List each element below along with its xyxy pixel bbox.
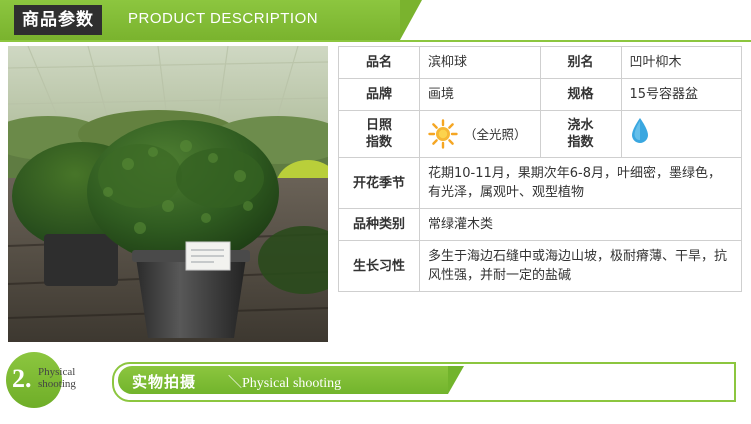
section-header: 商品参数 PRODUCT DESCRIPTION: [0, 0, 751, 42]
product-photo: [8, 46, 328, 342]
photo-illustration: [8, 46, 328, 342]
row-value-flowering: 花期10-11月，果期次年6-8月，叶细密，墨绿色，有光泽，属观叶、观型植物: [420, 158, 742, 209]
row-label-flowering: 开花季节: [339, 158, 420, 209]
row-value-watering: [621, 111, 742, 158]
sunlight-note: （全光照）: [464, 125, 527, 144]
row-value-sunlight: （全光照）: [420, 111, 541, 158]
table-row: 品种类别 常绿灌木类: [339, 209, 742, 241]
row-label-category: 品种类别: [339, 209, 420, 241]
header-title-cn: 商品参数: [14, 5, 102, 35]
table-row: 日照指数: [339, 111, 742, 158]
section-number-caption: Physical shooting: [38, 366, 76, 390]
section-title-cn: 实物拍摄: [132, 371, 196, 392]
row-label-sunlight: 日照指数: [339, 111, 420, 158]
row-value-name: 滨枊球: [420, 47, 541, 79]
row-label-spec: 规格: [540, 79, 621, 111]
row-label-brand: 品牌: [339, 79, 420, 111]
row-value-category: 常绿灌木类: [420, 209, 742, 241]
header-title-en: PRODUCT DESCRIPTION: [128, 10, 318, 27]
section-title-en: ＼Physical shooting: [228, 372, 341, 392]
row-value-alias: 凹叶枊木: [621, 47, 742, 79]
row-value-spec: 15号容器盆: [621, 79, 742, 111]
table-row: 品牌 画境 规格 15号容器盆: [339, 79, 742, 111]
row-label-watering: 浇水指数: [540, 111, 621, 158]
table-row: 开花季节 花期10-11月，果期次年6-8月，叶细密，墨绿色，有光泽，属观叶、观…: [339, 158, 742, 209]
row-value-brand: 画境: [420, 79, 541, 111]
header-underline: [0, 40, 751, 42]
row-label-name: 品名: [339, 47, 420, 79]
spec-table: 品名 滨枊球 别名 凹叶枊木 品牌 画境 规格 15号容器盆 日照指数: [338, 46, 742, 292]
row-label-alias: 别名: [540, 47, 621, 79]
product-description-page: 商品参数 PRODUCT DESCRIPTION: [0, 0, 751, 424]
sun-icon: [428, 119, 458, 149]
water-drop-icon: [630, 117, 650, 145]
row-value-habit: 多生于海边石缝中或海边山坡，极耐瘠薄、干旱，抗风性强，并耐一定的盐碱: [420, 241, 742, 292]
table-row: 生长习性 多生于海边石缝中或海边山坡，极耐瘠薄、干旱，抗风性强，并耐一定的盐碱: [339, 241, 742, 292]
spec-table-wrapper: 品名 滨枊球 别名 凹叶枊木 品牌 画境 规格 15号容器盆 日照指数: [338, 46, 742, 292]
section-physical-shooting: 2. Physical shooting 实物拍摄 ＼Physical shoo…: [0, 352, 751, 410]
table-row: 品名 滨枊球 别名 凹叶枊木: [339, 47, 742, 79]
row-label-habit: 生长习性: [339, 241, 420, 292]
section-caption-line2: shooting: [38, 378, 76, 390]
section-number: 2.: [12, 364, 32, 394]
section-caption-line1: Physical: [38, 366, 75, 378]
